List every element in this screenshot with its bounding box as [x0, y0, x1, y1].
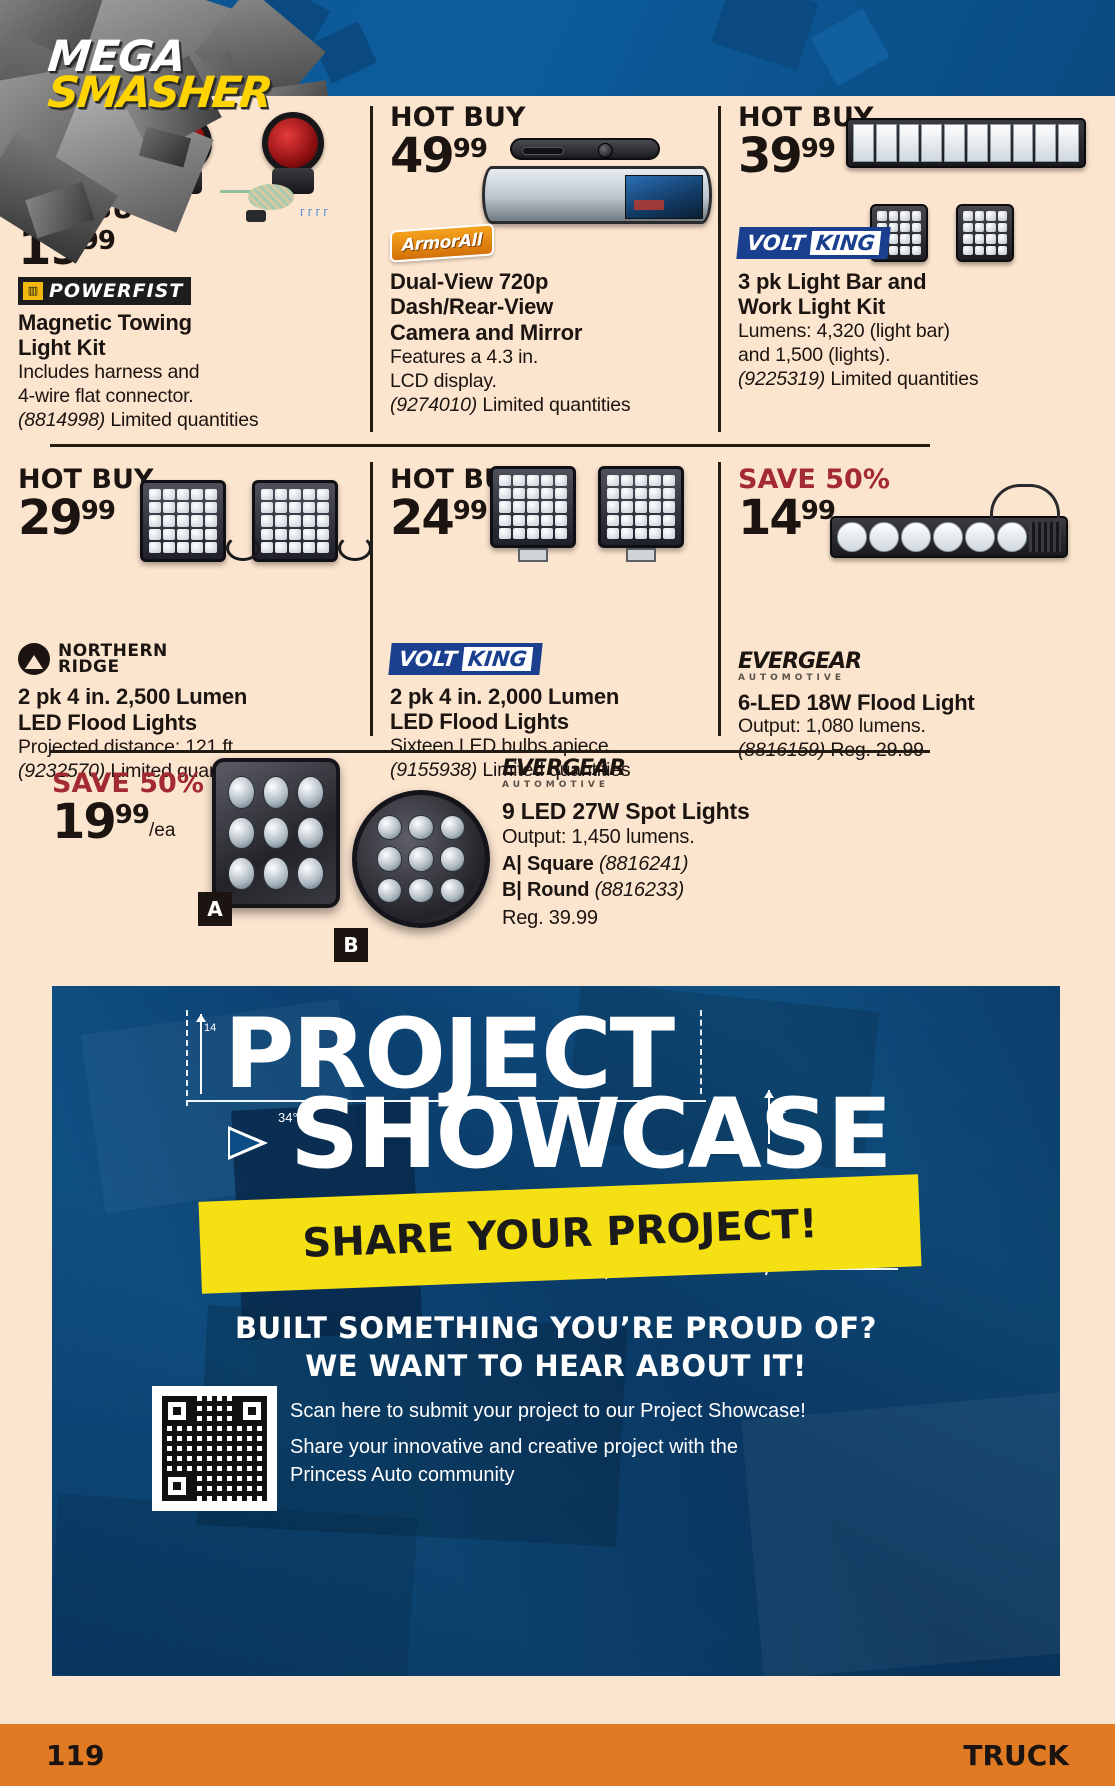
product-image-work-light-2	[956, 204, 1014, 262]
desc-line2: 4-wire flat connector.	[18, 385, 358, 409]
product-image-spot-round	[352, 790, 490, 928]
product-title: 6-LED 18W Flood Light	[738, 690, 1101, 716]
desc-line2: LCD display.	[390, 370, 706, 394]
variant-a-sku: (8816241)	[599, 853, 688, 875]
mountain-icon	[18, 643, 50, 675]
product-title-line1: Magnetic Towing	[18, 310, 358, 336]
product-title: Dual-View 720p Dash/Rear-View Camera and…	[390, 269, 706, 347]
product-image-mirror-camera	[482, 138, 712, 224]
brand-name-king: KING	[810, 231, 881, 255]
variant-b-sku: (8816233)	[595, 879, 684, 901]
price-dollars: 19	[18, 226, 81, 270]
product-sku: (9274010)	[390, 394, 477, 416]
price-cents: 99	[115, 804, 149, 828]
product-image-6led-flood-bar	[830, 482, 1100, 592]
project-showcase-banner[interactable]: 14 22 34° PROJECT SHOWCASE SHARE YOUR PR…	[52, 986, 1060, 1676]
sku-line: (9274010) Limited quantities	[390, 394, 706, 418]
blueprint-arrow-right-inner	[230, 1130, 260, 1156]
sku-line: (9225319) Limited quantities	[738, 368, 1101, 392]
variant-a-key: A|	[502, 853, 522, 875]
logo-line-smasher: SMASHER	[46, 74, 273, 114]
brand-logo-evergear: EVERGEAR AUTOMOTIVE	[502, 758, 932, 790]
variant-badge-b: B	[334, 928, 368, 962]
desc-line1: Lumens: 4,320 (light bar)	[738, 320, 1101, 344]
brand-subtitle: AUTOMOTIVE	[738, 674, 1101, 683]
blueprint-measure-14: 14	[204, 1022, 216, 1034]
qr-instruction-line3: Princess Auto community	[290, 1462, 515, 1489]
qr-code-image	[162, 1396, 267, 1501]
qr-instruction-line2: Share your innovative and creative proje…	[290, 1434, 738, 1461]
product-card-evergear-6-led-flood-light[interactable]: SAVE 50% 14 99	[720, 458, 1115, 744]
brand-logo-voltking: VOLT KING	[736, 227, 890, 259]
feature-regular-price: Reg. 39.99	[502, 906, 932, 930]
product-sku: (8814998)	[18, 409, 105, 431]
price-dollars: 49	[390, 134, 453, 178]
product-title: 3 pk Light Bar and Work Light Kit	[738, 269, 1101, 321]
product-row-2: HOT BUY 29 99 NORTHERNRIDGE 2 pk 4 in. 2…	[0, 444, 1115, 744]
category-label: TRUCK	[963, 1739, 1069, 1772]
product-title-line1: 2 pk 4 in. 2,000 Lumen	[390, 684, 706, 710]
brand-logo-northern-ridge: NORTHERNRIDGE	[18, 643, 168, 676]
brand-name-volt: VOLT	[746, 231, 806, 255]
feature-product-row[interactable]: SAVE 50% 19 99 /ea A B EVERGEAR AUTOMOTI…	[0, 744, 1115, 974]
variant-badge-a: A	[198, 892, 232, 926]
product-image-towing-lights: ᴦᴦᴦᴦ	[150, 112, 360, 232]
brand-name: NORTHERNRIDGE	[58, 643, 168, 676]
product-title: Magnetic Towing Light Kit	[18, 310, 358, 362]
price-cents: 99	[81, 500, 115, 524]
product-title: 2 pk 4 in. 2,000 Lumen LED Flood Lights	[390, 684, 706, 736]
desc-line1: Features a 4.3 in.	[390, 346, 706, 370]
price-dollars: 14	[738, 496, 801, 540]
desc-line1: Output: 1,080 lumens.	[738, 715, 1101, 739]
price-dollars: 39	[738, 134, 801, 178]
mega-smasher-logo: MEGA SMASHER	[48, 38, 270, 113]
product-row-1: ᴦᴦᴦᴦ HOT BUY 19 99 ▥ POWERFIST Magnetic …	[0, 96, 1115, 444]
brand-name-volt: VOLT	[398, 647, 458, 671]
brand-name: EVERGEAR	[502, 756, 625, 781]
product-card-light-bar-work-light-kit[interactable]: HOT BUY 39 99 VOLT KING	[720, 96, 1115, 444]
product-description: Includes harness and 4-wire flat connect…	[18, 361, 358, 432]
price-dollars: 24	[390, 496, 453, 540]
product-card-dual-view-camera-mirror[interactable]: HOT BUY 49 99 ArmorAll Dual-View 720p Da…	[372, 96, 720, 444]
blueprint-arrow-up	[200, 1014, 202, 1094]
brand-name: EVERGEAR	[738, 649, 861, 674]
brand-subtitle: AUTOMOTIVE	[502, 781, 932, 790]
product-title-line2: Light Kit	[18, 335, 358, 361]
desc-line2: and 1,500 (lights).	[738, 344, 1101, 368]
brand-logo-evergear: EVERGEAR AUTOMOTIVE	[738, 651, 1101, 683]
price-cents: 99	[81, 230, 115, 254]
product-sku: (9225319)	[738, 368, 825, 390]
banner-title-line2: SHOWCASE	[290, 1094, 890, 1176]
product-availability: Limited quantities	[482, 394, 630, 416]
product-title-line1: 6-LED 18W Flood Light	[738, 690, 1101, 716]
banner-subhead-line1: BUILT SOMETHING YOU’RE PROUD OF?	[52, 1310, 1060, 1348]
banner-texture	[741, 1393, 1060, 1676]
product-description: Lumens: 4,320 (light bar) and 1,500 (lig…	[738, 320, 1101, 391]
qr-instruction-line1: Scan here to submit your project to our …	[290, 1398, 806, 1425]
product-card-voltking-flood-lights[interactable]: HOT BUY 24 99 VOLT KING 2 pk 4 in. 2,000…	[372, 458, 720, 744]
blueprint-dash-line	[186, 1010, 188, 1106]
product-description: Features a 4.3 in. LCD display. (9274010…	[390, 346, 706, 417]
qr-code[interactable]	[152, 1386, 277, 1511]
tape-text: SHARE YOUR PROJECT!	[302, 1201, 819, 1267]
product-title-line1: 3 pk Light Bar and	[738, 269, 1101, 295]
feature-price: 19 99 /ea	[52, 800, 204, 844]
product-availability: Limited quantities	[830, 368, 978, 390]
page-footer: 119 TRUCK	[0, 1724, 1115, 1786]
variant-b-name: Round	[527, 879, 589, 901]
price-cents: 99	[453, 500, 487, 524]
product-grid: ᴦᴦᴦᴦ HOT BUY 19 99 ▥ POWERFIST Magnetic …	[0, 96, 1115, 974]
product-card-northern-ridge-flood-lights[interactable]: HOT BUY 29 99 NORTHERNRIDGE 2 pk 4 in. 2…	[0, 458, 372, 744]
product-card-magnetic-towing-light-kit[interactable]: ᴦᴦᴦᴦ HOT BUY 19 99 ▥ POWERFIST Magnetic …	[0, 96, 372, 444]
brand-name: POWERFIST	[49, 280, 183, 302]
brand-logo-voltking: VOLT KING	[388, 643, 542, 675]
product-image-spot-square	[212, 758, 340, 908]
brand-logo-powerfist: ▥ POWERFIST	[18, 277, 191, 305]
product-title-line2: LED Flood Lights	[390, 709, 706, 735]
powerfist-mark-icon: ▥	[22, 281, 44, 301]
product-title-line2: LED Flood Lights	[18, 710, 358, 736]
product-image-voltking-flood-pair	[490, 466, 705, 576]
product-title-line3: Camera and Mirror	[390, 320, 706, 346]
variant-a-name: Square	[527, 853, 594, 875]
price-cents: 99	[801, 138, 835, 162]
product-title-line2: Dash/Rear-View	[390, 294, 706, 320]
price-dollars: 29	[18, 496, 81, 540]
price-unit: /ea	[149, 822, 175, 839]
product-title-line2: Work Light Kit	[738, 294, 1101, 320]
desc-line1: Includes harness and	[18, 361, 358, 385]
feature-description: Output: 1,450 lumens.	[502, 825, 932, 849]
page-number: 119	[46, 1739, 104, 1772]
product-title-line1: Dual-View 720p	[390, 269, 706, 295]
banner-texture	[52, 1494, 418, 1676]
product-title-line1: 2 pk 4 in. 2,500 Lumen	[18, 684, 358, 710]
feature-title: 9 LED 27W Spot Lights	[502, 798, 932, 825]
price-dollars: 19	[52, 800, 115, 844]
sku-line: (8814998) Limited quantities	[18, 409, 358, 433]
product-image-light-bar	[846, 118, 1086, 168]
product-title: 2 pk 4 in. 2,500 Lumen LED Flood Lights	[18, 684, 358, 736]
product-image-flood-light-pair	[140, 480, 355, 580]
variant-b-key: B|	[502, 879, 522, 901]
brand-logo-armorall: ArmorAll	[390, 223, 494, 262]
variant-a-line: A| Square (8816241)	[502, 852, 932, 876]
price: 19 99	[18, 226, 358, 270]
brand-name-king: KING	[462, 647, 533, 671]
banner-subhead-line2: WE WANT TO HEAR ABOUT IT!	[52, 1348, 1060, 1386]
variant-b-line: B| Round (8816233)	[502, 878, 932, 902]
product-availability: Limited quantities	[110, 409, 258, 431]
